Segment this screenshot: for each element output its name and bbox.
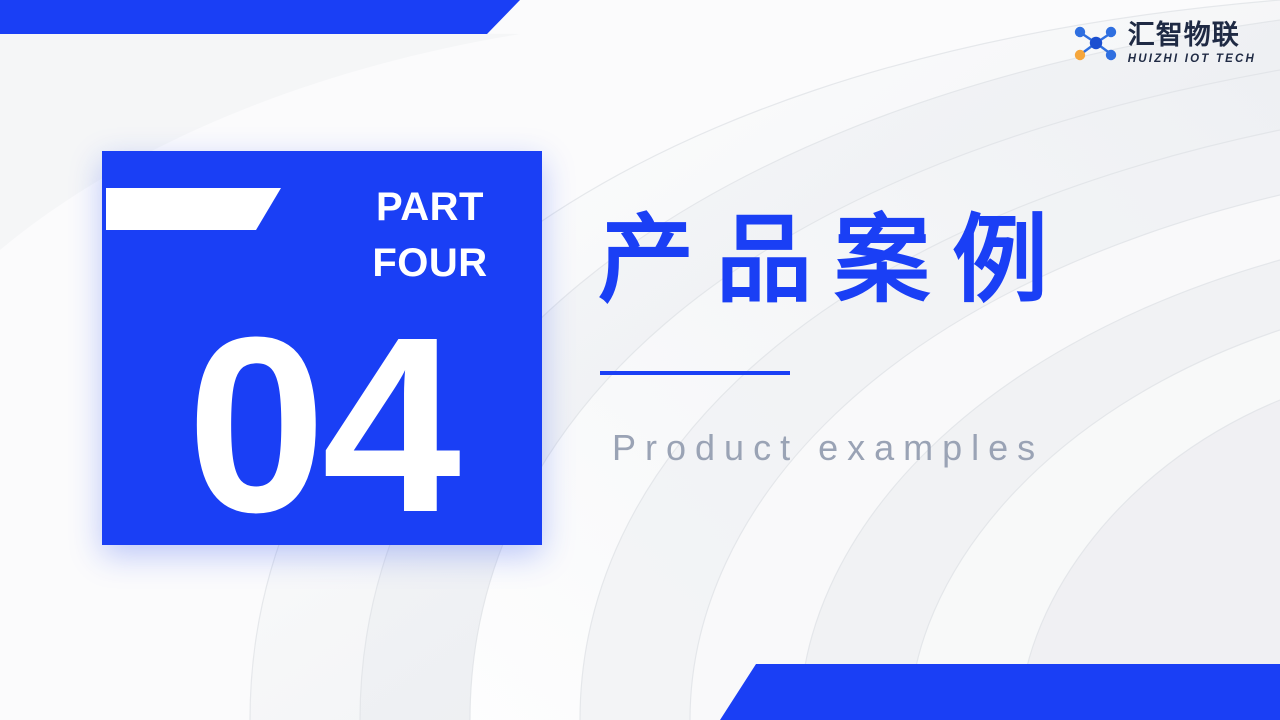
- top-left-accent-bar: [0, 0, 520, 34]
- company-logo: 汇智物联 HUIZHI IOT TECH: [1072, 22, 1256, 66]
- page-subtitle: Product examples: [612, 424, 1044, 472]
- card-dash-decoration: [106, 188, 281, 230]
- logo-text-block: 汇智物联 HUIZHI IOT TECH: [1128, 22, 1256, 66]
- page-title: 产品案例: [598, 206, 1070, 316]
- title-underline-rule: [600, 371, 790, 375]
- part-label-line2: FOUR: [330, 235, 530, 291]
- part-label-line1: PART: [330, 179, 530, 235]
- logo-name-en: HUIZHI IOT TECH: [1128, 54, 1256, 66]
- bottom-right-accent-bar: [720, 664, 1280, 720]
- part-number: 04: [102, 300, 542, 550]
- logo-name-cn: 汇智物联: [1128, 22, 1256, 49]
- network-nodes-icon: [1072, 22, 1120, 66]
- slide-root: PART FOUR 04 产品案例 Product examples 汇智物联 …: [0, 0, 1280, 720]
- part-label: PART FOUR: [330, 179, 530, 291]
